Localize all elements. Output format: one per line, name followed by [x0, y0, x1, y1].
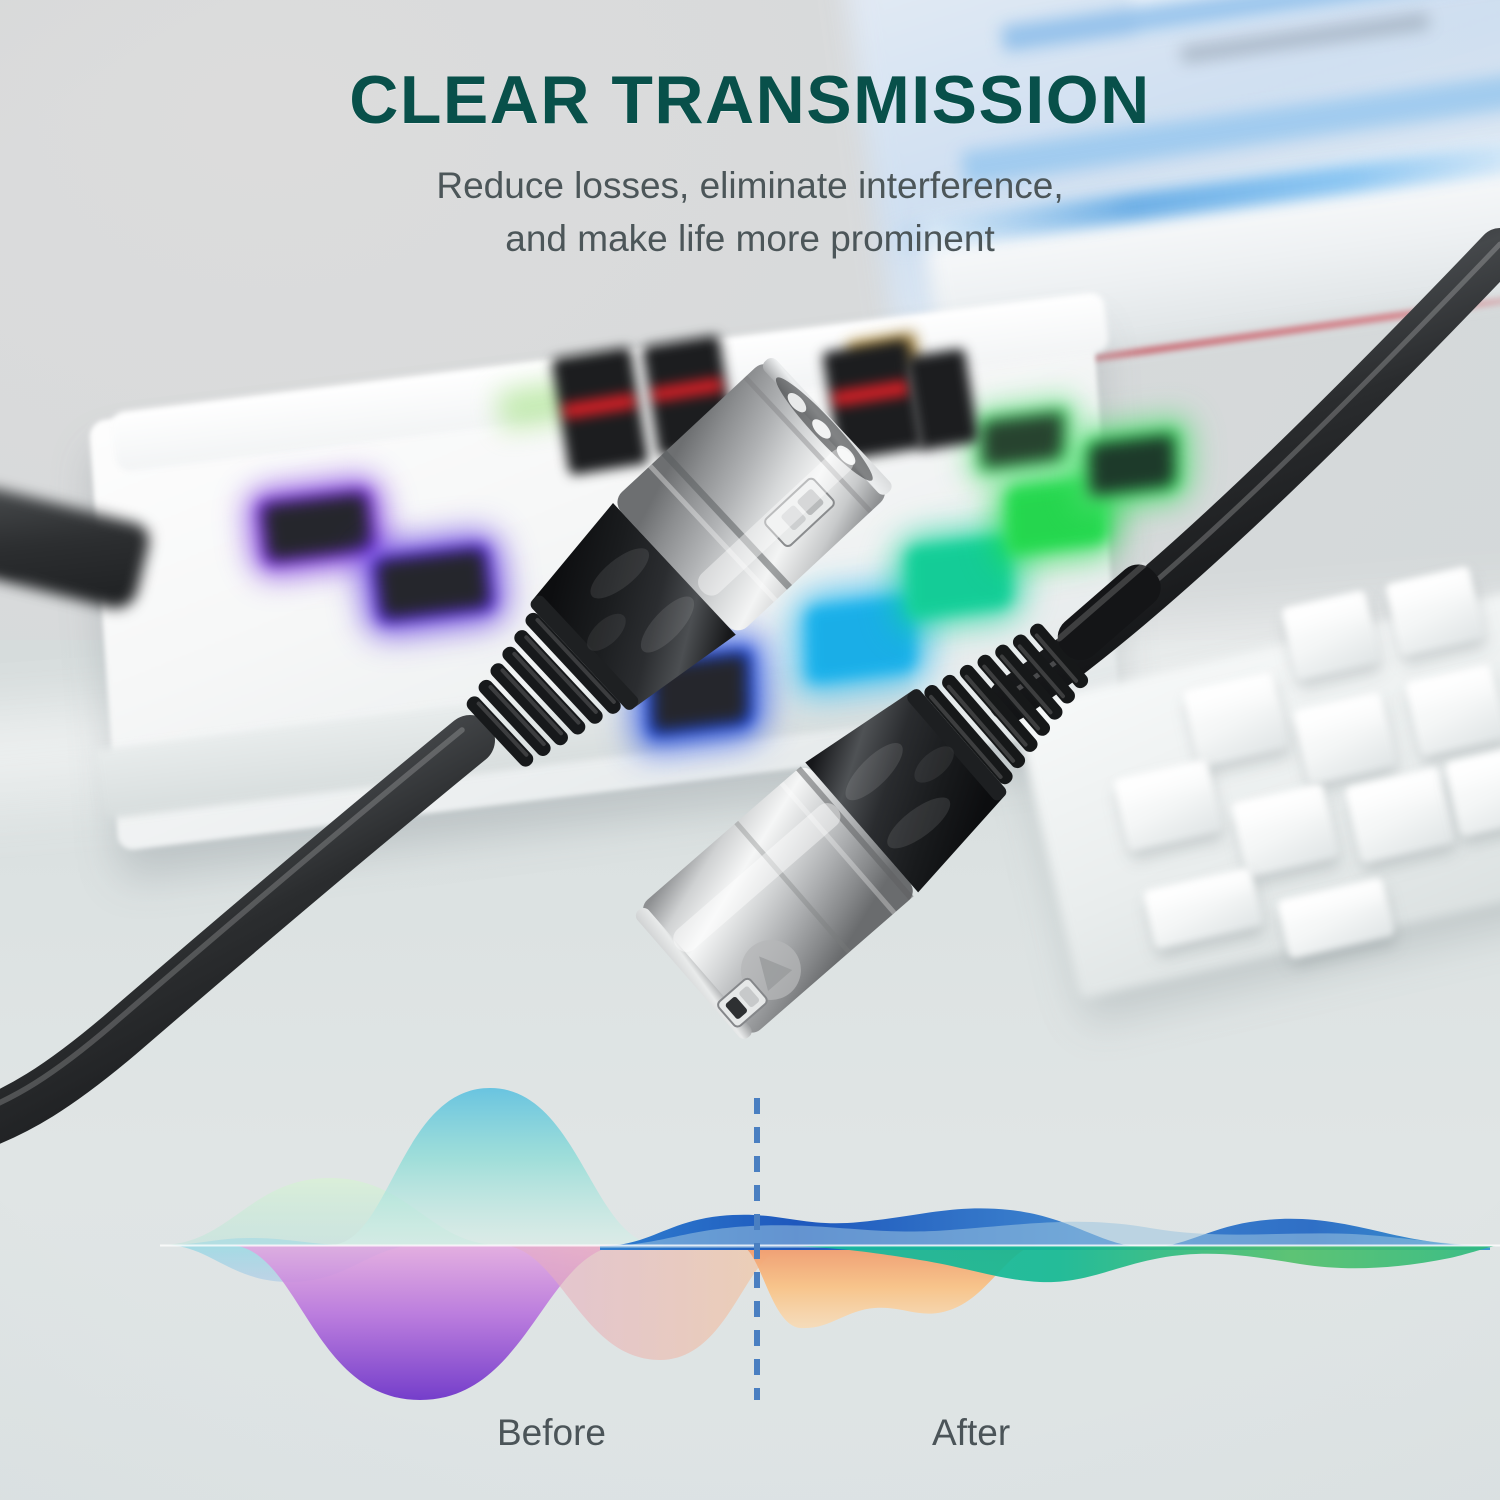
page-subtitle-line-2: and make life more prominent [0, 213, 1500, 266]
page-subtitle-line-1: Reduce losses, eliminate interference, [0, 160, 1500, 213]
wave-before-main-peak [330, 1088, 660, 1245]
wave-label-after: After [932, 1412, 1010, 1454]
page-subtitle: Reduce losses, eliminate interference, a… [0, 160, 1500, 265]
wave-label-before: Before [497, 1412, 606, 1454]
product-marketing-image: CLEAR TRANSMISSION Reduce losses, elimin… [0, 0, 1500, 1500]
page-title: CLEAR TRANSMISSION [0, 66, 1500, 134]
waveform-comparison-chart [0, 1070, 1500, 1500]
